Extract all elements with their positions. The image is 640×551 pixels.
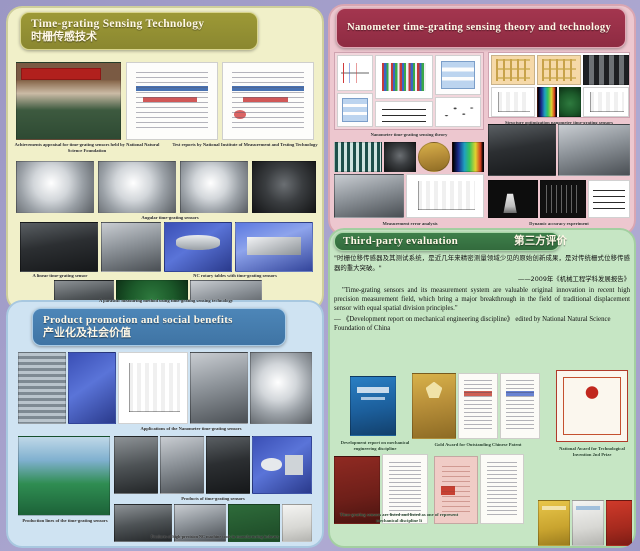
diagram-fem-model: [491, 87, 535, 117]
photo-experiment-setup-2: [558, 124, 630, 176]
caption-products-time-grating: Products of time-grating sensors: [114, 496, 312, 502]
caption-test-reports: Test reports by National Institute of Me…: [170, 142, 320, 148]
diagram-circuit: [337, 93, 373, 127]
panel-time-grating-sensing-technology: Time-grating Sensing Technology 时栅传感技术 A…: [6, 6, 324, 311]
photo-application-sensor: [250, 352, 312, 424]
photo-patent-certificate-2: [500, 373, 540, 439]
diagram-heatmap-scale: [537, 87, 557, 117]
photo-production-line: [18, 436, 110, 516]
theory-diagram-group: [334, 52, 484, 130]
quote-english-source: — 《Development report on mechanical engi…: [334, 315, 630, 333]
photo-linear-time-grating-sensor: [20, 222, 98, 272]
photo-test-report-2: [222, 62, 314, 140]
photo-rotary-table-3: [235, 222, 313, 272]
caption-production-lines: Production lines of the time-grating sen…: [20, 518, 110, 524]
photo-angular-sensor-4: [252, 161, 316, 213]
photo-sensor-disc-dark: [384, 142, 416, 172]
panel-title-product-promotion: Product promotion and social benefits 产业…: [32, 308, 286, 346]
photo-measurement-chart: [118, 352, 188, 424]
caption-measurement-error: Measurement error analysis: [336, 221, 484, 227]
panel-title-en: Product promotion and social benefits: [43, 314, 275, 326]
diagram-signal-plot: [435, 97, 481, 127]
scope-trace-3: [588, 180, 630, 218]
panel-title-third-party-cn-wrap: 第三方评价: [508, 232, 608, 251]
photo-experiment-setup-1: [488, 124, 556, 176]
caption-nc-machine-tools: Products of high-precision NC machine to…: [110, 534, 320, 539]
photo-sensor-micrograph: [583, 55, 629, 85]
diagram-fem-result: [559, 87, 581, 117]
panel-title-cn: 时栅传感技术: [31, 31, 247, 44]
photo-product-4: [252, 436, 312, 494]
panel-title-cn: 第三方评价: [514, 235, 602, 248]
caption-applications-nanometer: Applications of the Nanometer time-grati…: [66, 426, 316, 432]
panel-title-cn: 产业化及社会价值: [43, 327, 275, 340]
photo-sensor-disc-gold: [418, 142, 450, 172]
scope-trace-1: [488, 180, 538, 218]
panel-nanometer-theory: Nanometer time-grating sensing theory an…: [328, 4, 636, 236]
caption-nanometer-theory: Nanometer time-grating sensing theory: [336, 132, 482, 138]
scope-trace-2: [540, 180, 586, 218]
photo-angular-sensor-3: [180, 161, 248, 213]
photo-patent-certificate-1: [458, 373, 498, 439]
photo-product-1: [114, 436, 158, 494]
caption-development-report: Development report on mechanical enginee…: [330, 440, 420, 452]
panel-product-promotion: Product promotion and social benefits 产业…: [6, 300, 324, 548]
caption-appraisal: Achievements appraisal for time-grating …: [12, 142, 162, 154]
photo-sensor-electrode-1: [491, 55, 535, 85]
diagram-response-curve: [583, 87, 629, 117]
photo-national-award-certificate: [556, 370, 628, 442]
photo-application-lab: [190, 352, 248, 424]
caption-linear-sensor: A linear time-grating sensor: [14, 273, 106, 279]
caption-nc-rotary-tables: NC rotary tables with time-grating senso…: [152, 273, 318, 279]
photo-angular-sensor-2: [98, 161, 176, 213]
photo-angular-sensor-1: [16, 161, 94, 213]
photo-application-shelf: [18, 352, 66, 424]
caption-national-award: National Award for Technological Inventi…: [554, 446, 630, 458]
diagram-field-model: [375, 55, 433, 99]
diagram-signal-flow: [435, 55, 481, 95]
caption-dynamic-accuracy: Dynamic accuracy experiment: [488, 221, 630, 227]
structure-optimization-group: [488, 52, 630, 118]
quote-chinese: "时栅位移传感器及其测试系统，是近几年来精密测量领域少见的原始创新成果，是对传统…: [334, 254, 630, 273]
caption-parasitic-method: A parasitic measuring method using time-…: [46, 298, 286, 304]
photo-standard-book-yellow: [538, 500, 570, 546]
chart-measurement-error: [406, 174, 484, 218]
photo-rotary-table-2: [164, 222, 232, 272]
diagram-field-heatmap: [452, 142, 484, 172]
photo-standard-book-red: [606, 500, 632, 546]
evaluation-quotes: "时栅位移传感器及其测试系统，是近几年来精密测量领域少见的原始创新成果，是对传统…: [334, 254, 630, 333]
diagram-waveform: [337, 55, 373, 91]
panel-third-party-evaluation: Third-party evaluation 第三方评价 "时栅位移传感器及其测…: [328, 228, 636, 548]
photo-development-report-book: [350, 376, 396, 436]
photo-application-equipment: [68, 352, 116, 424]
photo-product-2: [160, 436, 204, 494]
photo-book-page-2: [480, 454, 524, 524]
photo-gold-award-certificate: [412, 373, 456, 439]
caption-angular-sensors: Angular time-grating sensors: [90, 215, 250, 221]
photo-test-report-1: [126, 62, 218, 140]
panel-title-nanometer-theory: Nanometer time-grating sensing theory an…: [336, 8, 626, 48]
panel-title-en: Nanometer time-grating sensing theory an…: [347, 22, 615, 34]
diagram-structure: [375, 101, 433, 127]
caption-time-grating-listed: Time-grating sensors are listed and list…: [334, 512, 464, 524]
photo-appraisal-meeting: [16, 62, 121, 140]
panel-title-time-grating: Time-grating Sensing Technology 时栅传感技术: [20, 12, 258, 50]
photo-error-measurement-setup: [334, 174, 404, 218]
photo-sensor-electrode-2: [537, 55, 581, 85]
caption-structure-optimization: Structure optimization nanometer time-gr…: [486, 120, 632, 126]
caption-gold-award: Gold Award for Outstanding Chinese Paten…: [412, 442, 544, 448]
photo-standard-book-white: [572, 500, 604, 546]
quote-chinese-source: ——2009年《机械工程学科发展报告》: [334, 274, 630, 283]
photo-grating-stripes: [334, 142, 382, 172]
quote-english: "Time-grating sensors and its measuremen…: [334, 286, 630, 313]
photo-rotary-table-1: [101, 222, 161, 272]
photo-product-3: [206, 436, 250, 494]
